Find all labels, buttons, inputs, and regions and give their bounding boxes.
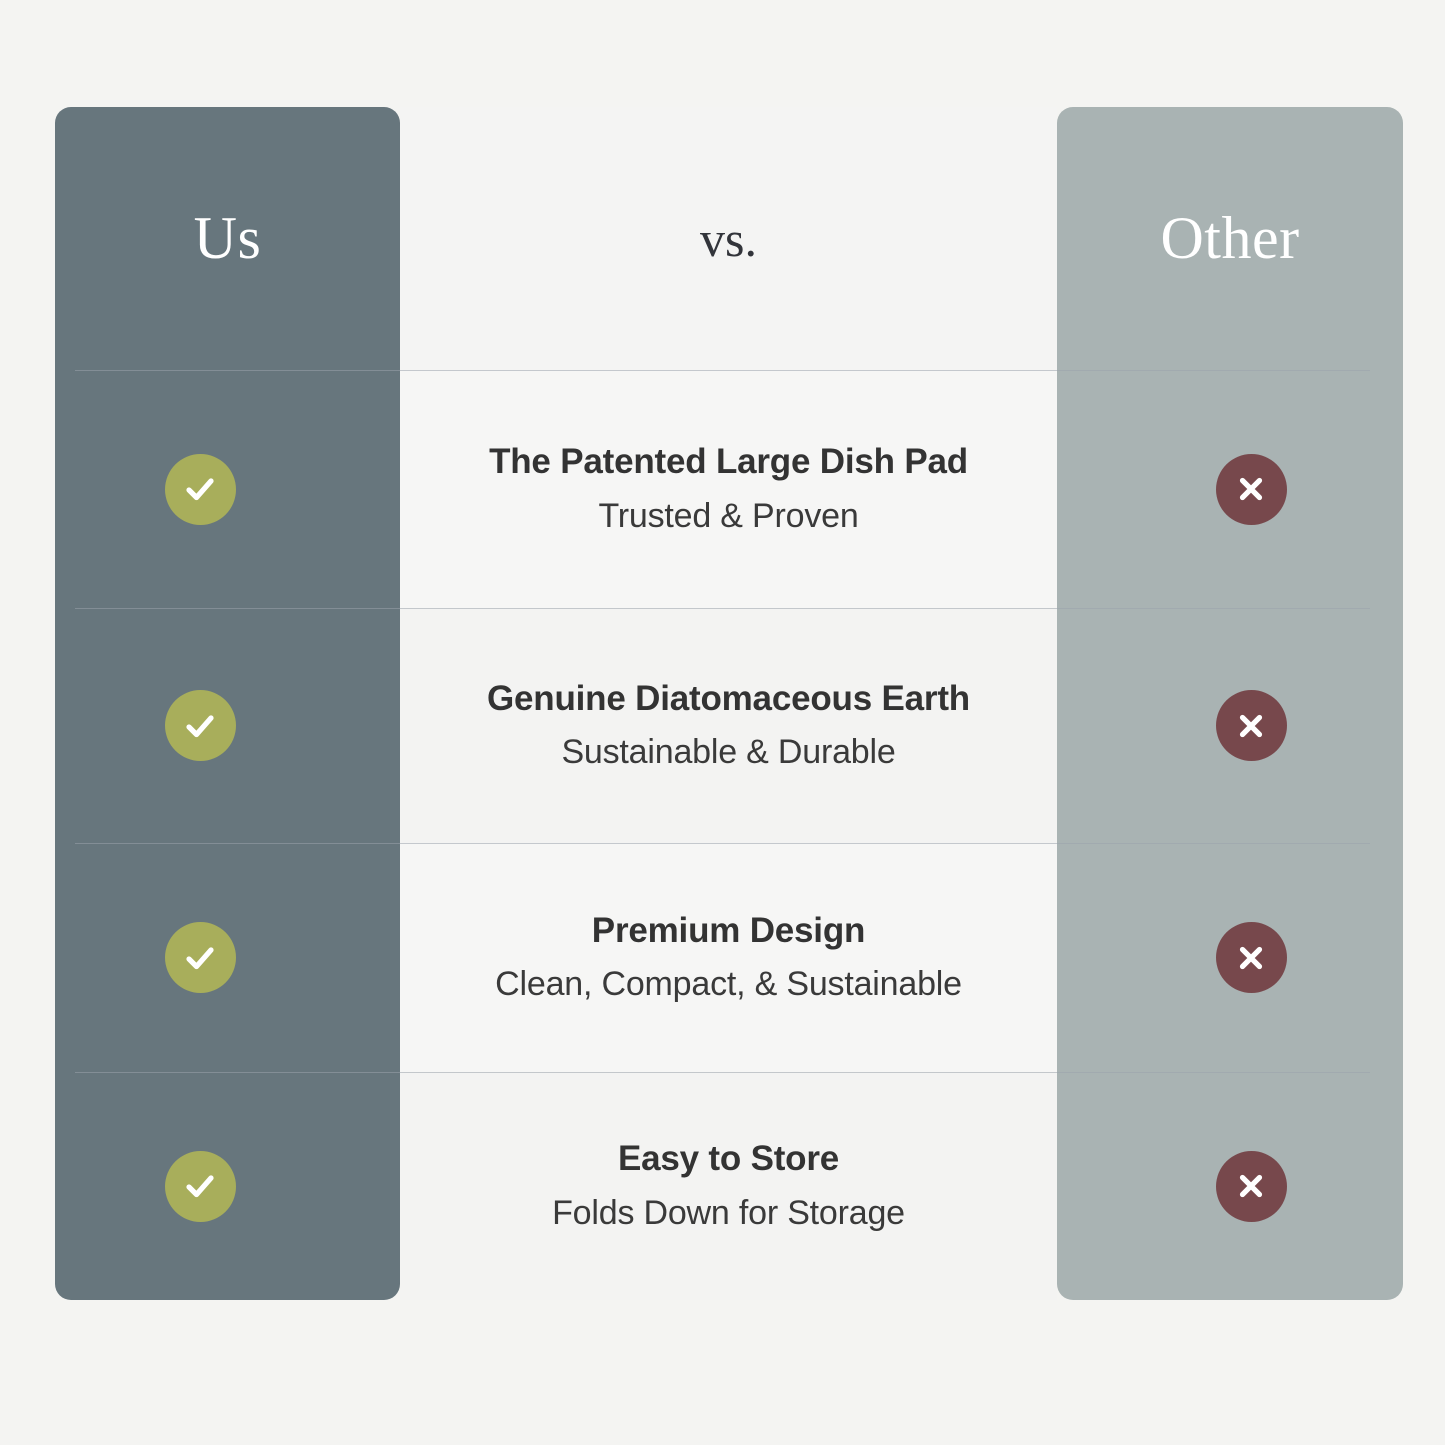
check-icon: [165, 922, 236, 993]
feature-subtitle: Sustainable & Durable: [561, 730, 895, 774]
feature-title: Premium Design: [592, 909, 865, 954]
feature-title: Easy to Store: [618, 1137, 839, 1182]
header-row: Us vs. Other: [0, 107, 1445, 370]
versus-label: vs.: [400, 107, 1057, 370]
cross-icon: [1216, 1151, 1287, 1222]
cross-icon: [1216, 454, 1287, 525]
feature-subtitle: Folds Down for Storage: [552, 1191, 905, 1235]
other-status-cell: [1057, 843, 1445, 1072]
cross-icon: [1216, 690, 1287, 761]
feature-row: Genuine Diatomaceous Earth Sustainable &…: [0, 608, 1445, 843]
us-status-cell: [0, 370, 400, 608]
feature-subtitle: Clean, Compact, & Sustainable: [495, 962, 962, 1006]
us-column-header: Us: [55, 107, 400, 370]
other-status-cell: [1057, 608, 1445, 843]
comparison-chart: Us vs. Other The Patented Large Dish Pad…: [0, 0, 1445, 1445]
feature-text-cell: Genuine Diatomaceous Earth Sustainable &…: [400, 677, 1057, 775]
us-status-cell: [0, 843, 400, 1072]
feature-subtitle: Trusted & Proven: [598, 494, 858, 538]
check-icon: [165, 454, 236, 525]
feature-title: Genuine Diatomaceous Earth: [487, 677, 970, 722]
check-icon: [165, 690, 236, 761]
feature-title: The Patented Large Dish Pad: [489, 440, 968, 485]
cross-icon: [1216, 922, 1287, 993]
feature-row: The Patented Large Dish Pad Trusted & Pr…: [0, 370, 1445, 608]
us-status-cell: [0, 608, 400, 843]
other-column-header: Other: [1057, 107, 1403, 370]
us-status-cell: [0, 1072, 400, 1300]
other-status-cell: [1057, 1072, 1445, 1300]
feature-row: Premium Design Clean, Compact, & Sustain…: [0, 843, 1445, 1072]
check-icon: [165, 1151, 236, 1222]
feature-row: Easy to Store Folds Down for Storage: [0, 1072, 1445, 1300]
feature-text-cell: Premium Design Clean, Compact, & Sustain…: [400, 909, 1057, 1007]
feature-text-cell: Easy to Store Folds Down for Storage: [400, 1137, 1057, 1235]
feature-text-cell: The Patented Large Dish Pad Trusted & Pr…: [400, 440, 1057, 538]
other-status-cell: [1057, 370, 1445, 608]
